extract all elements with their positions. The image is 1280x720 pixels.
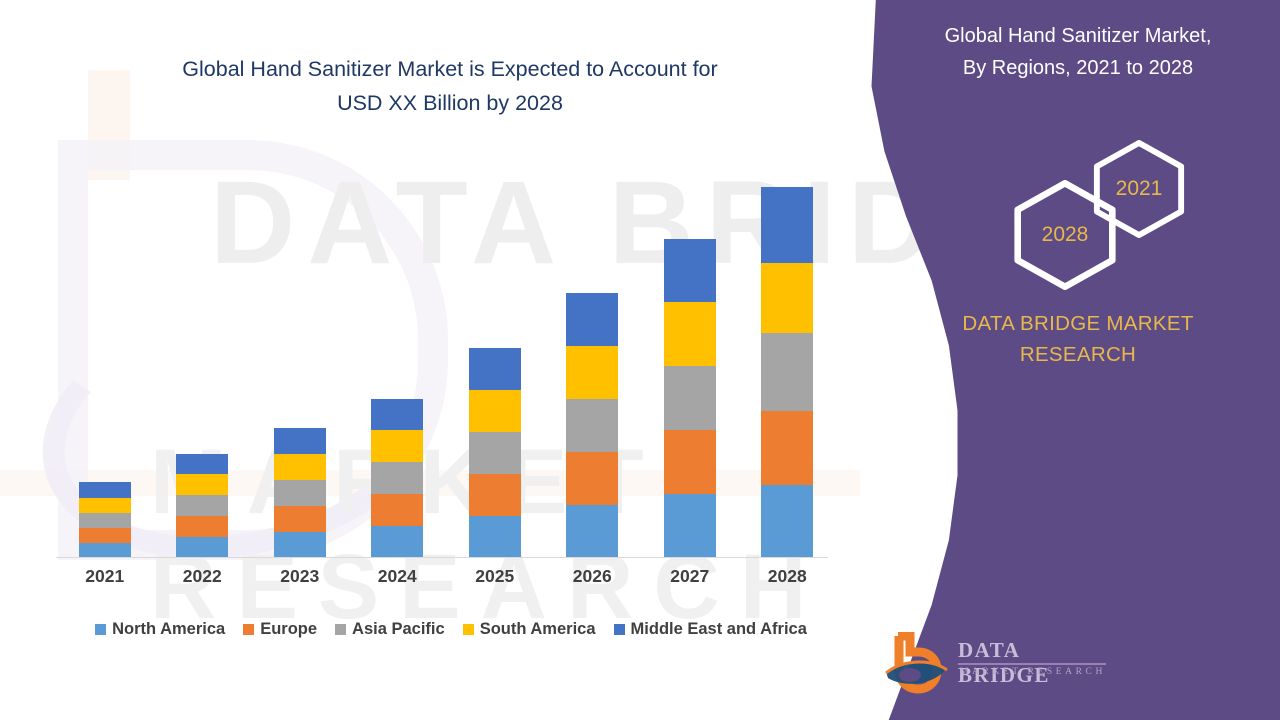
legend-item-asia-pacific[interactable]: Asia Pacific — [335, 620, 445, 639]
bar-segment — [371, 462, 423, 494]
bar-segment — [79, 543, 131, 558]
brand-name-line-2: RESEARCH — [898, 339, 1258, 370]
bar-segment — [79, 498, 131, 513]
bar-segment — [566, 346, 618, 399]
bar-segment — [761, 187, 813, 263]
legend-label: Europe — [260, 620, 317, 639]
bar-column — [761, 187, 813, 558]
bar-segment — [176, 537, 228, 558]
bar-column — [566, 293, 618, 558]
hexagon-badge-2021-label: 2021 — [1116, 177, 1163, 201]
bar-column — [79, 482, 131, 558]
bar-segment — [664, 302, 716, 366]
bar-segment — [469, 432, 521, 474]
legend-swatch-icon — [243, 624, 254, 635]
logo-subtitle: MARKET RESEARCH — [960, 667, 1106, 677]
bar-segment — [274, 428, 326, 454]
bar-column — [371, 399, 423, 558]
x-axis-label-2025: 2025 — [447, 566, 543, 587]
legend-item-europe[interactable]: Europe — [243, 620, 317, 639]
bar-segment — [664, 366, 716, 430]
bar-segment — [761, 263, 813, 333]
bar-segment — [566, 452, 618, 505]
brand-name-line-1: DATA BRIDGE MARKET — [898, 308, 1258, 339]
bar-segment — [176, 495, 228, 516]
legend-item-north-america[interactable]: North America — [95, 620, 225, 639]
bar-segment — [566, 505, 618, 558]
bar-segment — [664, 239, 716, 302]
bar-segment — [274, 506, 326, 532]
bar-segment — [664, 494, 716, 558]
bar-segment — [469, 348, 521, 390]
logo-mark-icon — [884, 632, 954, 694]
x-axis-label-2027: 2027 — [642, 566, 738, 587]
panel-heading-line-2: By Regions, 2021 to 2028 — [898, 52, 1258, 84]
hexagon-badge-2028-label: 2028 — [1042, 223, 1089, 247]
panel-heading: Global Hand Sanitizer Market, By Regions… — [898, 20, 1258, 84]
legend-label: South America — [480, 620, 596, 639]
x-axis-label-2026: 2026 — [544, 566, 640, 587]
bar-segment — [79, 528, 131, 543]
bar-segment — [274, 532, 326, 558]
bar-segment — [566, 293, 618, 346]
x-axis-label-2024: 2024 — [349, 566, 445, 587]
x-axis-label-2021: 2021 — [57, 566, 153, 587]
legend-label: Middle East and Africa — [631, 620, 807, 639]
bar-segment — [176, 474, 228, 495]
legend-swatch-icon — [463, 624, 474, 635]
legend-swatch-icon — [335, 624, 346, 635]
legend-label: Asia Pacific — [352, 620, 445, 639]
hexagon-badge-2028: 2028 — [1010, 180, 1120, 290]
bar-column — [469, 348, 521, 558]
chart-legend: North AmericaEuropeAsia PacificSouth Ame… — [56, 616, 846, 642]
stacked-bar-plot-area — [56, 150, 836, 558]
bar-segment — [79, 513, 131, 528]
bar-column — [664, 239, 716, 558]
chart-title: Global Hand Sanitizer Market is Expected… — [70, 52, 830, 120]
chart-title-line-2: USD XX Billion by 2028 — [70, 86, 830, 120]
company-logo: DATA BRIDGE MARKET RESEARCH — [884, 630, 1114, 696]
legend-item-middle-east-and-africa[interactable]: Middle East and Africa — [614, 620, 807, 639]
bar-segment — [566, 399, 618, 452]
bar-segment — [176, 454, 228, 474]
legend-item-south-america[interactable]: South America — [463, 620, 596, 639]
legend-swatch-icon — [614, 624, 625, 635]
x-axis-label-2023: 2023 — [252, 566, 348, 587]
bar-segment — [274, 454, 326, 480]
bar-segment — [761, 411, 813, 485]
bar-column — [176, 454, 228, 558]
bar-segment — [664, 430, 716, 494]
bar-segment — [469, 516, 521, 558]
x-axis-label-2028: 2028 — [739, 566, 835, 587]
bar-segment — [469, 474, 521, 516]
bar-segment — [79, 482, 131, 498]
x-axis-line — [56, 557, 828, 558]
x-axis-tick-labels: 20212022202320242025202620272028 — [56, 566, 836, 596]
legend-label: North America — [112, 620, 225, 639]
brand-name: DATA BRIDGE MARKET RESEARCH — [898, 308, 1258, 370]
x-axis-label-2022: 2022 — [154, 566, 250, 587]
bar-segment — [371, 399, 423, 430]
bar-segment — [469, 390, 521, 432]
bar-segment — [274, 480, 326, 506]
bar-segment — [371, 494, 423, 526]
bar-column — [274, 428, 326, 558]
legend-swatch-icon — [95, 624, 106, 635]
bar-segment — [176, 516, 228, 537]
bar-segment — [371, 526, 423, 558]
bar-segment — [761, 333, 813, 411]
bar-segment — [371, 430, 423, 462]
panel-heading-line-1: Global Hand Sanitizer Market, — [898, 20, 1258, 52]
chart-title-line-1: Global Hand Sanitizer Market is Expected… — [70, 52, 830, 86]
bar-segment — [761, 485, 813, 558]
infographic-canvas: DATA BRIDGE MARKET RESEARCH Global Hand … — [0, 0, 1280, 720]
logo-divider — [958, 663, 1106, 665]
